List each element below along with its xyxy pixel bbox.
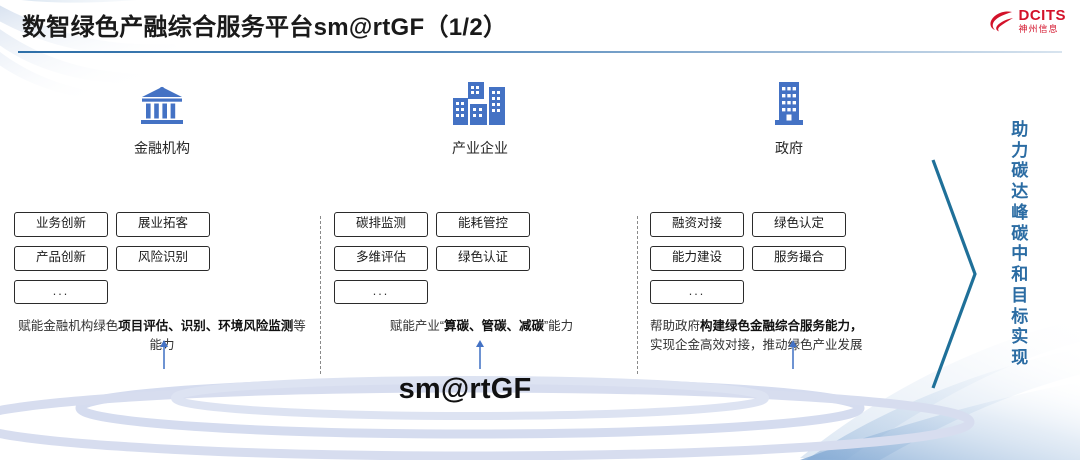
desc-text: 帮助政府 — [650, 319, 700, 333]
actor-government: 政府 — [699, 78, 879, 158]
column-industrial-enterprises: 碳排监测 能耗管控 多维评估 绿色认证 ... 赋能产业“算碳、管碳、减碳”能力 — [334, 212, 629, 336]
actor-label: 产业企业 — [390, 138, 570, 158]
chevron-right-icon — [925, 158, 985, 390]
brand-logo: DCITS 神州信息 — [989, 8, 1067, 34]
tag-item[interactable]: 绿色认定 — [752, 212, 846, 237]
actor-row: 金融机构 — [0, 78, 930, 170]
actor-label: 金融机构 — [72, 138, 252, 158]
up-arrow-icon — [473, 340, 487, 370]
up-arrow-icon — [786, 340, 800, 370]
tag-item[interactable]: 展业拓客 — [116, 212, 210, 237]
tag-item[interactable]: 服务撮合 — [752, 246, 846, 271]
tag-item-more[interactable]: ... — [650, 280, 744, 305]
up-arrow-icon — [157, 340, 171, 370]
platform-wordmark: sm@rtGF — [0, 373, 930, 406]
tag-item[interactable]: 业务创新 — [14, 212, 108, 237]
slide-root: 数智绿色产融综合服务平台sm@rtGF（1/2） DCITS 神州信息 — [0, 0, 1080, 460]
title-divider — [18, 51, 1062, 53]
desc-text: 赋能产业“ — [390, 319, 444, 333]
bank-icon — [72, 78, 252, 128]
page-title: 数智绿色产融综合服务平台sm@rtGF（1/2） — [22, 7, 507, 42]
actor-label: 政府 — [699, 138, 879, 158]
slogan-vertical-text: 助力碳达峰碳中和目标实现 — [1003, 120, 1037, 369]
tag-item-more[interactable]: ... — [14, 280, 108, 305]
logo-name: DCITS — [1019, 8, 1067, 23]
actor-financial-institutions: 金融机构 — [72, 78, 252, 158]
column-separator — [637, 216, 638, 374]
tag-item[interactable]: 绿色认证 — [436, 246, 530, 271]
tag-item[interactable]: 碳排监测 — [334, 212, 428, 237]
desc-text: 实现企金高效对接，推动绿色产业发展 — [650, 338, 863, 352]
tag-item[interactable]: 融资对接 — [650, 212, 744, 237]
desc-emphasis: 算碳、管碳、减碳 — [444, 319, 544, 333]
dcits-swirl-icon — [989, 9, 1015, 33]
desc-text: 赋能金融机构绿色 — [18, 319, 118, 333]
desc-text: ”能力 — [544, 319, 573, 333]
office-building-icon — [699, 78, 879, 128]
city-buildings-icon — [390, 78, 570, 128]
tag-item[interactable]: 产品创新 — [14, 246, 108, 271]
column-separator — [320, 216, 321, 374]
column-financial-institutions: 业务创新 展业拓客 产品创新 风险识别 ... 赋能金融机构绿色项目评估、识别、… — [14, 212, 310, 355]
column-government: 融资对接 绿色认定 能力建设 服务撮合 ... 帮助政府构建绿色金融综合服务能力… — [650, 212, 930, 355]
desc-emphasis: 构建绿色金融综合服务能力， — [700, 319, 863, 333]
tag-item-more[interactable]: ... — [334, 280, 428, 305]
tag-group: 融资对接 绿色认定 能力建设 服务撮合 ... — [650, 212, 930, 304]
tag-item[interactable]: 能力建设 — [650, 246, 744, 271]
column-description: 赋能产业“算碳、管碳、减碳”能力 — [334, 317, 629, 336]
tag-group: 碳排监测 能耗管控 多维评估 绿色认证 ... — [334, 212, 629, 304]
slide-header: 数智绿色产融综合服务平台sm@rtGF（1/2） DCITS 神州信息 — [0, 0, 1080, 52]
desc-emphasis: 项目评估、识别、环境风险监测 — [118, 319, 293, 333]
tag-item[interactable]: 能耗管控 — [436, 212, 530, 237]
actor-industrial-enterprises: 产业企业 — [390, 78, 570, 158]
tag-item[interactable]: 风险识别 — [116, 246, 210, 271]
tag-item[interactable]: 多维评估 — [334, 246, 428, 271]
logo-subtitle: 神州信息 — [1019, 25, 1067, 34]
tag-group: 业务创新 展业拓客 产品创新 风险识别 ... — [14, 212, 310, 304]
